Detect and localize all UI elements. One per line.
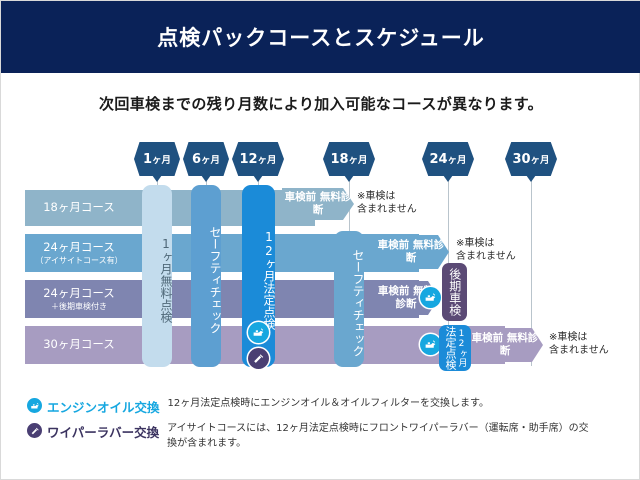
late-inspection-label: 後期車検 bbox=[448, 268, 461, 316]
pre-inspection-arrow-30-label: 車検前 無料診断 bbox=[467, 332, 543, 358]
timeline-arrow-6-icon bbox=[201, 175, 211, 182]
legal-12month-label-b: 12ヶ月 bbox=[456, 329, 465, 367]
month-marker-12-unit: ヶ月 bbox=[258, 152, 277, 166]
legal-12month-label-a: 法定点検 bbox=[445, 326, 457, 370]
legend-title-engine-oil: エンジンオイル交換 bbox=[47, 397, 160, 416]
course-label-30-main: 30ヶ月コース bbox=[43, 338, 115, 351]
timeline-arrow-12-icon bbox=[253, 175, 263, 182]
month-marker-6-number: 6 bbox=[192, 152, 201, 167]
legal-12month-box: 法定点検 12ヶ月 bbox=[439, 325, 471, 371]
month-marker-30: 30ヶ月 bbox=[505, 142, 557, 176]
month-marker-18-unit: ヶ月 bbox=[349, 152, 368, 166]
pre-inspection-arrow-18: 車検前 無料診断 bbox=[282, 188, 354, 220]
month-marker-18: 18ヶ月 bbox=[323, 142, 375, 176]
subtitle: 次回車検までの残り月数により加入可能なコースが異なります。 bbox=[1, 93, 640, 114]
timeline-arrow-24-icon bbox=[443, 175, 453, 182]
page-header: 点検パックコースとスケジュール bbox=[1, 1, 640, 73]
course-label-30: 30ヶ月コース bbox=[25, 326, 133, 364]
month-marker-24-number: 24 bbox=[429, 152, 447, 167]
legend-item-engine-oil: エンジンオイル交換 12ヶ月法定点検時にエンジンオイル＆オイルフィルターを交換し… bbox=[27, 397, 627, 416]
column-1month: 1ヶ月無料点検 bbox=[142, 185, 172, 367]
timeline-arrow-18-icon bbox=[344, 175, 354, 182]
course-label-24-sub: （アイサイトコース有） bbox=[35, 256, 122, 265]
legend-desc-engine-oil: 12ヶ月法定点検時にエンジンオイル＆オイルフィルターを交換します。 bbox=[168, 397, 598, 412]
oil-can-icon bbox=[248, 322, 269, 343]
column-6month: セーフティチェック bbox=[191, 185, 221, 367]
pre-inspection-arrow-24: 車検前 無料診断 bbox=[373, 235, 449, 269]
month-marker-18-number: 18 bbox=[330, 152, 348, 167]
month-marker-1-unit: ヶ月 bbox=[152, 152, 171, 166]
month-marker-30-unit: ヶ月 bbox=[531, 152, 550, 166]
month-marker-12: 12ヶ月 bbox=[232, 142, 284, 176]
oil-can-icon-row3 bbox=[420, 287, 441, 308]
course-label-24-late-sub: ＋後期車検付き bbox=[51, 302, 107, 311]
wiper-icon-legend bbox=[27, 423, 42, 438]
wiper-icon bbox=[248, 348, 269, 369]
course-label-24-late: 24ヶ月コース ＋後期車検付き bbox=[25, 280, 133, 318]
pre-inspection-arrow-18-label: 車検前 無料診断 bbox=[282, 191, 354, 217]
course-label-18-main: 18ヶ月コース bbox=[43, 201, 115, 214]
note-no-shaken-30: ※車検は 含まれません bbox=[549, 331, 609, 357]
note-no-shaken-18: ※車検は 含まれません bbox=[357, 190, 417, 216]
month-marker-1-number: 1 bbox=[143, 152, 152, 167]
pre-inspection-arrow-24-label: 車検前 無料診断 bbox=[373, 239, 449, 265]
pre-inspection-arrow-30: 車検前 無料診断 bbox=[467, 328, 543, 362]
legend-title-wiper: ワイパーラバー交換 bbox=[47, 422, 159, 441]
course-label-18: 18ヶ月コース bbox=[25, 190, 133, 226]
legend-item-wiper: ワイパーラバー交換 アイサイトコースには、12ヶ月法定点検時にフロントワイパーラ… bbox=[27, 422, 627, 451]
late-inspection-box: 後期車検 bbox=[442, 263, 467, 321]
column-18month-label: セーフティチェック bbox=[351, 249, 364, 357]
note-no-shaken-24: ※車検は 含まれません bbox=[456, 237, 516, 263]
month-marker-6: 6ヶ月 bbox=[183, 142, 229, 176]
month-marker-6-unit: ヶ月 bbox=[201, 152, 220, 166]
timeline-arrow-30-icon bbox=[526, 175, 536, 182]
oil-can-icon-row4 bbox=[420, 334, 441, 355]
diagram-frame: 点検パックコースとスケジュール 次回車検までの残り月数により加入可能なコースが異… bbox=[0, 0, 640, 480]
course-label-24-late-main: 24ヶ月コース bbox=[43, 287, 115, 300]
month-marker-24-unit: ヶ月 bbox=[448, 152, 467, 166]
month-marker-12-number: 12 bbox=[239, 152, 257, 167]
column-1month-label: 1ヶ月無料点検 bbox=[159, 237, 172, 323]
course-label-24: 24ヶ月コース （アイサイトコース有） bbox=[25, 234, 133, 272]
month-marker-30-number: 30 bbox=[512, 152, 530, 167]
month-marker-24: 24ヶ月 bbox=[422, 142, 474, 176]
column-12month-label: 12ヶ月法定点検 bbox=[262, 230, 275, 330]
timeline-arrow-1-icon bbox=[152, 175, 162, 182]
legend-desc-wiper: アイサイトコースには、12ヶ月法定点検時にフロントワイパーラバー（運転席・助手席… bbox=[167, 422, 597, 451]
page-title: 点検パックコースとスケジュール bbox=[157, 22, 484, 52]
oil-can-icon-legend bbox=[27, 398, 42, 413]
month-marker-1: 1ヶ月 bbox=[134, 142, 180, 176]
course-label-24-main: 24ヶ月コース bbox=[43, 241, 115, 254]
column-6month-label: セーフティチェック bbox=[208, 226, 221, 334]
column-18month: セーフティチェック bbox=[334, 231, 364, 367]
